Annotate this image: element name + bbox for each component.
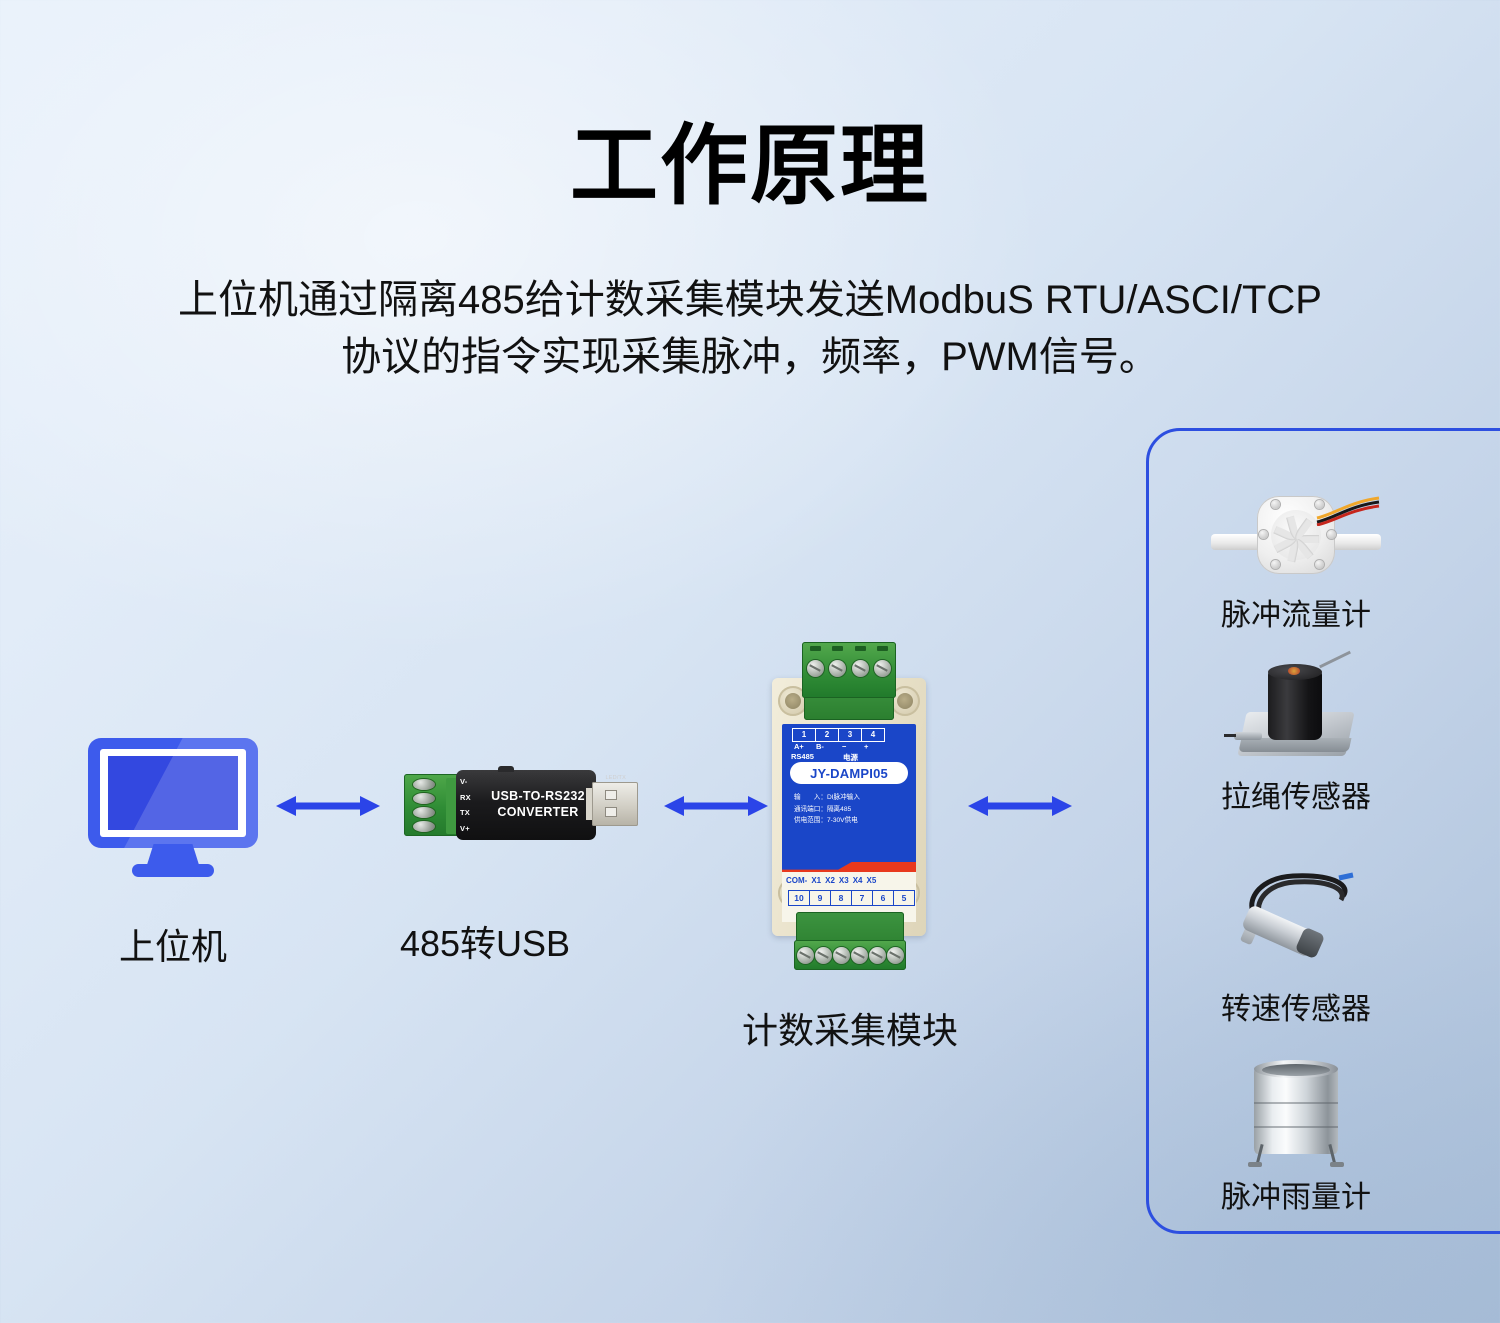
converter-label: 485转USB xyxy=(275,915,695,967)
converter-pin-labels: V- RX TX V+ xyxy=(460,774,482,836)
module-feature-1: 通讯端口：隔离485 xyxy=(794,804,860,816)
converter-device-text: USB-TO-RS232 CONVERTER xyxy=(484,788,592,820)
converter-pin-1: RX xyxy=(460,790,482,806)
module-bottom-screws xyxy=(796,944,904,966)
module-pin-plus: + xyxy=(864,742,868,751)
speed-sensor-icon xyxy=(1150,862,1442,980)
sensor-label: 脉冲流量计 xyxy=(1150,590,1442,634)
sensor-label: 拉绳传感器 xyxy=(1150,772,1442,816)
subtitle-line-1: 上位机通过隔离485给计数采集模块发送ModbuS RTU/ASCI/TCP xyxy=(90,272,1410,329)
terminal-number: 7 xyxy=(851,890,872,906)
arrow-host-converter xyxy=(276,793,380,819)
usb-plug-icon xyxy=(592,782,638,826)
converter-text-line-2: CONVERTER xyxy=(484,804,592,820)
bottom-pin: X5 xyxy=(867,876,877,885)
terminal-number: 9 xyxy=(809,890,830,906)
draw-wire-sensor-icon xyxy=(1150,650,1442,768)
rain-gauge-icon xyxy=(1150,1050,1442,1168)
converter-pin-3: V+ xyxy=(460,821,482,837)
counter-acquisition-module: 1 2 3 4 A+ B- − + RS485 电源 JY-DAMPI05 输 … xyxy=(760,640,938,972)
converter-pin-0: V- xyxy=(460,774,482,790)
page-subtitle: 上位机通过隔离485给计数采集模块发送ModbuS RTU/ASCI/TCP 协… xyxy=(90,272,1410,386)
usb-to-rs232-converter: V- RX TX V+ USB-TO-RS232 CONVERTER LED/T… xyxy=(404,768,640,846)
sensor-label: 转速传感器 xyxy=(1150,984,1442,1028)
subtitle-line-2: 协议的指令实现采集脉冲，频率，PWM信号。 xyxy=(90,329,1410,386)
arrow-module-sensors xyxy=(968,793,1072,819)
bottom-pin: X1 xyxy=(811,876,821,885)
module-group-rs485: RS485 xyxy=(791,752,814,761)
converter-text-line-1: USB-TO-RS232 xyxy=(484,788,592,804)
terminal-number: 2 xyxy=(815,728,838,742)
terminal-number: 3 xyxy=(838,728,861,742)
module-top-slots xyxy=(804,646,894,651)
sensor-item-speed-sensor: 转速传感器 xyxy=(1150,862,1442,1028)
terminal-number: 6 xyxy=(872,890,893,906)
module-feature-list: 输 入：DI脉冲输入 通讯端口：隔离485 供电范围：7-30V供电 xyxy=(794,792,860,827)
page-title: 工作原理 xyxy=(0,122,1500,210)
module-top-screws xyxy=(804,658,894,678)
converter-led-label: LED/TX xyxy=(606,775,626,781)
sensor-label: 脉冲雨量计 xyxy=(1150,1172,1442,1216)
module-model-badge: JY-DAMPI05 xyxy=(790,762,908,784)
module-label: 计数采集模块 xyxy=(690,1002,1010,1054)
terminal-number: 8 xyxy=(830,890,851,906)
converter-pin-2: TX xyxy=(460,805,482,821)
terminal-number: 5 xyxy=(893,890,915,906)
sensor-item-rain-gauge: 脉冲雨量计 xyxy=(1150,1050,1442,1216)
module-feature-0: 输 入：DI脉冲输入 xyxy=(794,792,860,804)
module-pin-minus: − xyxy=(842,742,846,751)
flow-meter-icon xyxy=(1150,468,1442,586)
bottom-pin: X3 xyxy=(839,876,849,885)
monitor-base xyxy=(132,864,214,877)
monitor-gloss xyxy=(88,738,258,848)
host-label: 上位机 xyxy=(48,918,298,970)
bottom-pin: COM- xyxy=(786,876,807,885)
bottom-pin: X2 xyxy=(825,876,835,885)
monitor-icon xyxy=(88,738,258,878)
module-bottom-terminal-numbers: 10 9 8 7 6 5 xyxy=(788,890,915,906)
converter-terminal-block xyxy=(404,774,460,836)
sensor-item-flow-meter: 脉冲流量计 xyxy=(1150,468,1442,634)
module-pin-b: B- xyxy=(816,742,824,751)
module-feature-2: 供电范围：7-30V供电 xyxy=(794,815,860,827)
module-model-text: JY-DAMPI05 xyxy=(810,766,888,781)
sensor-item-draw-wire: 拉绳传感器 xyxy=(1150,650,1442,816)
terminal-number: 4 xyxy=(861,728,885,742)
bottom-pin: X4 xyxy=(853,876,863,885)
terminal-number: 10 xyxy=(788,890,809,906)
terminal-number: 1 xyxy=(792,728,815,742)
module-bottom-pin-labels: COM- X1 X2 X3 X4 X5 xyxy=(786,876,876,885)
module-top-terminal-numbers: 1 2 3 4 xyxy=(792,728,885,742)
module-pin-a: A+ xyxy=(794,742,804,751)
arrow-converter-module xyxy=(664,793,768,819)
